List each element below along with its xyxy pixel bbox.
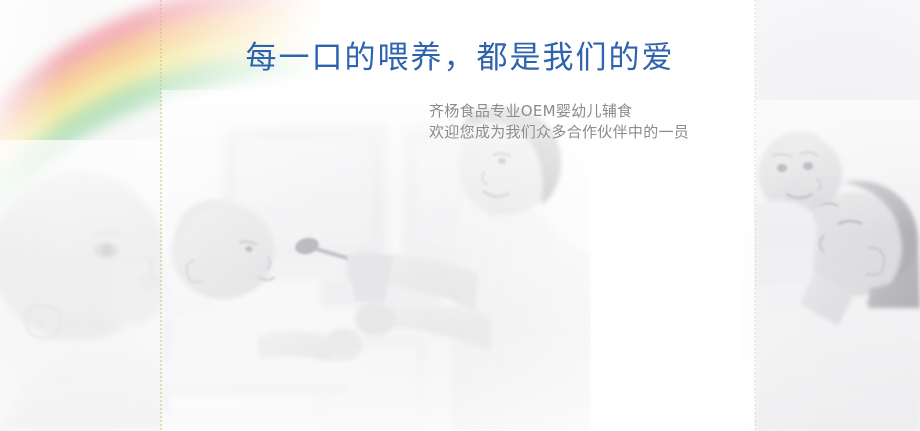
promo-banner: 每一口的喂养，都是我们的爱 齐杨食品专业OEM婴幼儿辅食 欢迎您成为我们众多合作… (0, 0, 920, 431)
subtitle-line-2: 欢迎您成为我们众多合作伙伴中的一员 (429, 122, 689, 143)
subtitle-block: 齐杨食品专业OEM婴幼儿辅食 欢迎您成为我们众多合作伙伴中的一员 (429, 101, 689, 143)
page-title: 每一口的喂养，都是我们的爱 (0, 38, 920, 78)
subtitle-line-1: 齐杨食品专业OEM婴幼儿辅食 (429, 101, 689, 122)
